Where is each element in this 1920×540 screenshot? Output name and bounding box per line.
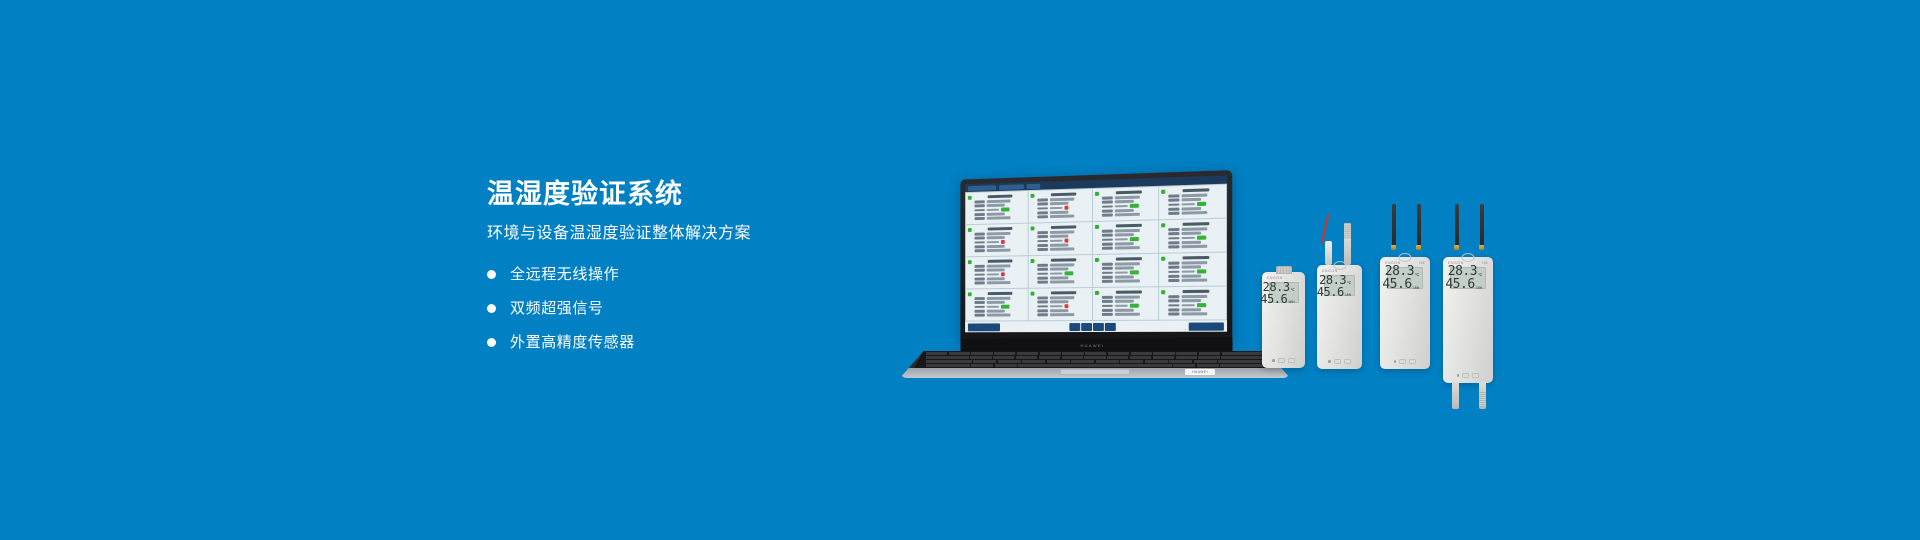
sensor-card[interactable] — [1029, 288, 1092, 320]
page-title: 温湿度验证系统 — [487, 178, 907, 210]
status-led-icon — [968, 260, 972, 264]
lanyard-loop-icon — [1399, 253, 1412, 262]
feature-label: 双频超强信号 — [510, 301, 604, 316]
laptop-keyboard[interactable] — [900, 351, 1290, 368]
feature-item-2: 双频超强信号 — [487, 301, 907, 316]
page-button-1[interactable] — [1069, 323, 1080, 331]
export-report-button[interactable] — [1189, 322, 1224, 330]
status-badge — [1001, 207, 1010, 211]
status-badge — [1001, 272, 1005, 275]
sensor-card[interactable] — [966, 191, 1028, 224]
device-model: H8 — [1419, 261, 1425, 265]
device-lcd-display: 28.3℃ 45.6%RH — [1387, 267, 1423, 289]
status-led-icon — [968, 292, 972, 296]
antenna-connector-left — [1391, 245, 1396, 250]
menu-item-monitoring[interactable] — [968, 185, 996, 191]
probe-mesh-bottom-right — [1479, 392, 1486, 407]
bullet-dot-icon — [487, 270, 496, 279]
status-led-icon — [1031, 226, 1035, 230]
status-badge — [1001, 305, 1010, 309]
sticker-label: HUAWEI — [1192, 370, 1208, 374]
status-badge — [1197, 303, 1206, 307]
antenna-right-icon — [1480, 204, 1484, 246]
feature-label: 全远程无线操作 — [510, 267, 619, 282]
humidity-reading: 45.6%RH — [1382, 278, 1419, 291]
refresh-button[interactable] — [968, 323, 1000, 331]
status-led-icon — [1095, 291, 1099, 295]
device-model: H8 — [1482, 261, 1488, 265]
antenna-connector-right — [1416, 245, 1421, 250]
device-button-left[interactable] — [1462, 373, 1469, 378]
menu-item-help[interactable] — [1027, 183, 1040, 188]
card-title — [988, 227, 1013, 231]
status-led-icon — [1161, 290, 1165, 294]
humidity-reading: 45.6%RH — [1317, 286, 1351, 298]
laptop-screen — [965, 175, 1227, 332]
status-led-icon — [1031, 194, 1035, 198]
card-title — [1051, 258, 1076, 261]
sensor-device-3[interactable]: ENGON H8 28.3℃ 45.6%RH — [1380, 257, 1430, 369]
status-badge — [1197, 236, 1206, 240]
card-title — [988, 259, 1013, 262]
status-badge — [1130, 270, 1139, 274]
device-button-right[interactable] — [1288, 358, 1295, 363]
bullet-dot-icon — [487, 304, 496, 313]
sensor-card[interactable] — [1159, 219, 1226, 253]
probe-sensor-mesh — [1344, 223, 1351, 240]
status-led-icon — [968, 196, 972, 200]
antenna-connector-right — [1479, 245, 1484, 250]
device-lcd-display: 28.3℃ 45.6%RH — [1269, 282, 1299, 303]
card-title — [1116, 290, 1142, 293]
power-led-icon — [1457, 374, 1460, 377]
device-lcd-display: 28.3℃ 45.6%RH — [1324, 275, 1355, 296]
device-button-right[interactable] — [1409, 359, 1416, 364]
sensor-device-2[interactable]: ENGON 28.3℃ 45.6%RH — [1317, 265, 1362, 369]
card-title — [1183, 256, 1210, 260]
sensor-card[interactable] — [1093, 187, 1158, 221]
device-button-row[interactable] — [1328, 359, 1351, 364]
status-badge — [1001, 240, 1005, 244]
sensor-card[interactable] — [1093, 287, 1158, 320]
page-button-2[interactable] — [1081, 323, 1092, 331]
app-bottom-toolbar — [965, 320, 1227, 332]
pagination[interactable] — [1069, 322, 1115, 330]
sensor-card[interactable] — [966, 289, 1028, 321]
card-title — [1183, 222, 1210, 226]
card-title — [1183, 290, 1210, 293]
antenna-left-icon — [1455, 204, 1459, 246]
sensor-card[interactable] — [1029, 255, 1092, 288]
laptop-sticker: HUAWEI — [1185, 369, 1215, 375]
status-badge — [1065, 239, 1069, 243]
power-led-icon — [1394, 360, 1397, 363]
brand-logo: HUAWEI — [1081, 342, 1105, 347]
status-led-icon — [1095, 225, 1099, 229]
device-button-right[interactable] — [1344, 359, 1351, 364]
device-button-row[interactable] — [1272, 358, 1295, 363]
antenna-left-icon — [1392, 204, 1396, 246]
sensor-card[interactable] — [1159, 185, 1226, 220]
status-led-icon — [968, 228, 972, 232]
device-button-left[interactable] — [1399, 359, 1406, 364]
device-button-left[interactable] — [1278, 358, 1285, 363]
humidity-reading: 45.6%RH — [1260, 293, 1294, 305]
card-title — [1051, 193, 1076, 197]
power-led-icon — [1272, 359, 1275, 362]
menu-item-alarm-settings[interactable] — [999, 184, 1024, 190]
card-title — [1051, 225, 1076, 229]
sensor-card[interactable] — [1159, 286, 1226, 319]
card-title — [988, 292, 1013, 295]
humidity-reading: 45.6%RH — [1445, 278, 1482, 291]
status-badge — [1065, 304, 1069, 308]
device-button-left[interactable] — [1334, 359, 1341, 364]
antenna-right-icon — [1417, 204, 1421, 246]
page-button-3[interactable] — [1093, 322, 1104, 330]
status-led-icon — [1031, 259, 1035, 263]
sensor-card[interactable] — [1029, 222, 1092, 255]
promo-banner: 温湿度验证系统 环境与设备温湿度验证整体解决方案 全远程无线操作 双频超强信号 … — [0, 0, 1920, 540]
sensor-card[interactable] — [1093, 220, 1158, 254]
antenna-connector-left — [1454, 245, 1459, 250]
probe-connector — [1325, 241, 1332, 265]
laptop-trackpad[interactable] — [1060, 369, 1130, 375]
bullet-dot-icon — [487, 338, 496, 347]
sensor-card[interactable] — [1159, 253, 1226, 287]
probe-bottom-left — [1452, 382, 1459, 409]
probe-cable-red — [1321, 214, 1330, 244]
sensor-card[interactable] — [1093, 254, 1158, 287]
feature-label: 外置高精度传感器 — [510, 335, 635, 350]
status-led-icon — [1161, 190, 1165, 194]
status-badge — [1197, 202, 1206, 206]
card-title — [1116, 190, 1142, 194]
feature-item-3: 外置高精度传感器 — [487, 335, 907, 350]
probe-body — [1344, 239, 1351, 265]
sensor-card[interactable] — [966, 224, 1028, 257]
hanging-tab-icon — [1276, 266, 1292, 274]
status-badge — [1197, 269, 1206, 273]
feature-item-1: 全远程无线操作 — [487, 267, 907, 282]
status-badge — [1130, 304, 1139, 308]
card-title — [988, 195, 1013, 199]
sensor-card[interactable] — [966, 256, 1028, 288]
sensor-card-grid — [965, 184, 1227, 322]
status-led-icon — [1161, 257, 1165, 261]
status-badge — [1065, 206, 1069, 210]
lanyard-loop-icon — [1462, 253, 1475, 262]
status-badge — [1130, 237, 1139, 241]
status-badge — [1130, 204, 1139, 208]
laptop-lid — [960, 170, 1232, 343]
copy-block: 温湿度验证系统 环境与设备温湿度验证整体解决方案 全远程无线操作 双频超强信号 … — [487, 178, 907, 369]
device-button-row[interactable] — [1457, 373, 1480, 378]
page-subtitle: 环境与设备温湿度验证整体解决方案 — [487, 224, 907, 245]
status-badge — [1065, 271, 1074, 275]
sensor-device-4[interactable]: ENGON H8 28.3℃ 45.6%RH — [1443, 257, 1493, 383]
sensor-card[interactable] — [1029, 189, 1092, 223]
device-lcd-display: 28.3℃ 45.6%RH — [1450, 267, 1486, 289]
temperature-reading: 28.3℃ — [1319, 274, 1351, 286]
card-title — [1183, 188, 1210, 192]
card-title — [1116, 257, 1142, 260]
status-led-icon — [1095, 192, 1099, 196]
laptop-hinge: HUAWEI — [960, 338, 1232, 352]
device-button-row[interactable] — [1394, 359, 1417, 364]
card-title — [1116, 224, 1142, 228]
power-led-icon — [1328, 360, 1331, 363]
device-button-right[interactable] — [1472, 373, 1479, 378]
card-title — [1051, 291, 1076, 294]
temperature-reading: 28.3℃ — [1263, 281, 1295, 293]
status-led-icon — [1095, 258, 1099, 262]
sensor-device-1[interactable]: ENGON 28.3℃ 45.6%RH — [1262, 272, 1305, 368]
page-button-4[interactable] — [1105, 322, 1116, 330]
status-led-icon — [1161, 223, 1165, 227]
status-led-icon — [1031, 292, 1035, 296]
